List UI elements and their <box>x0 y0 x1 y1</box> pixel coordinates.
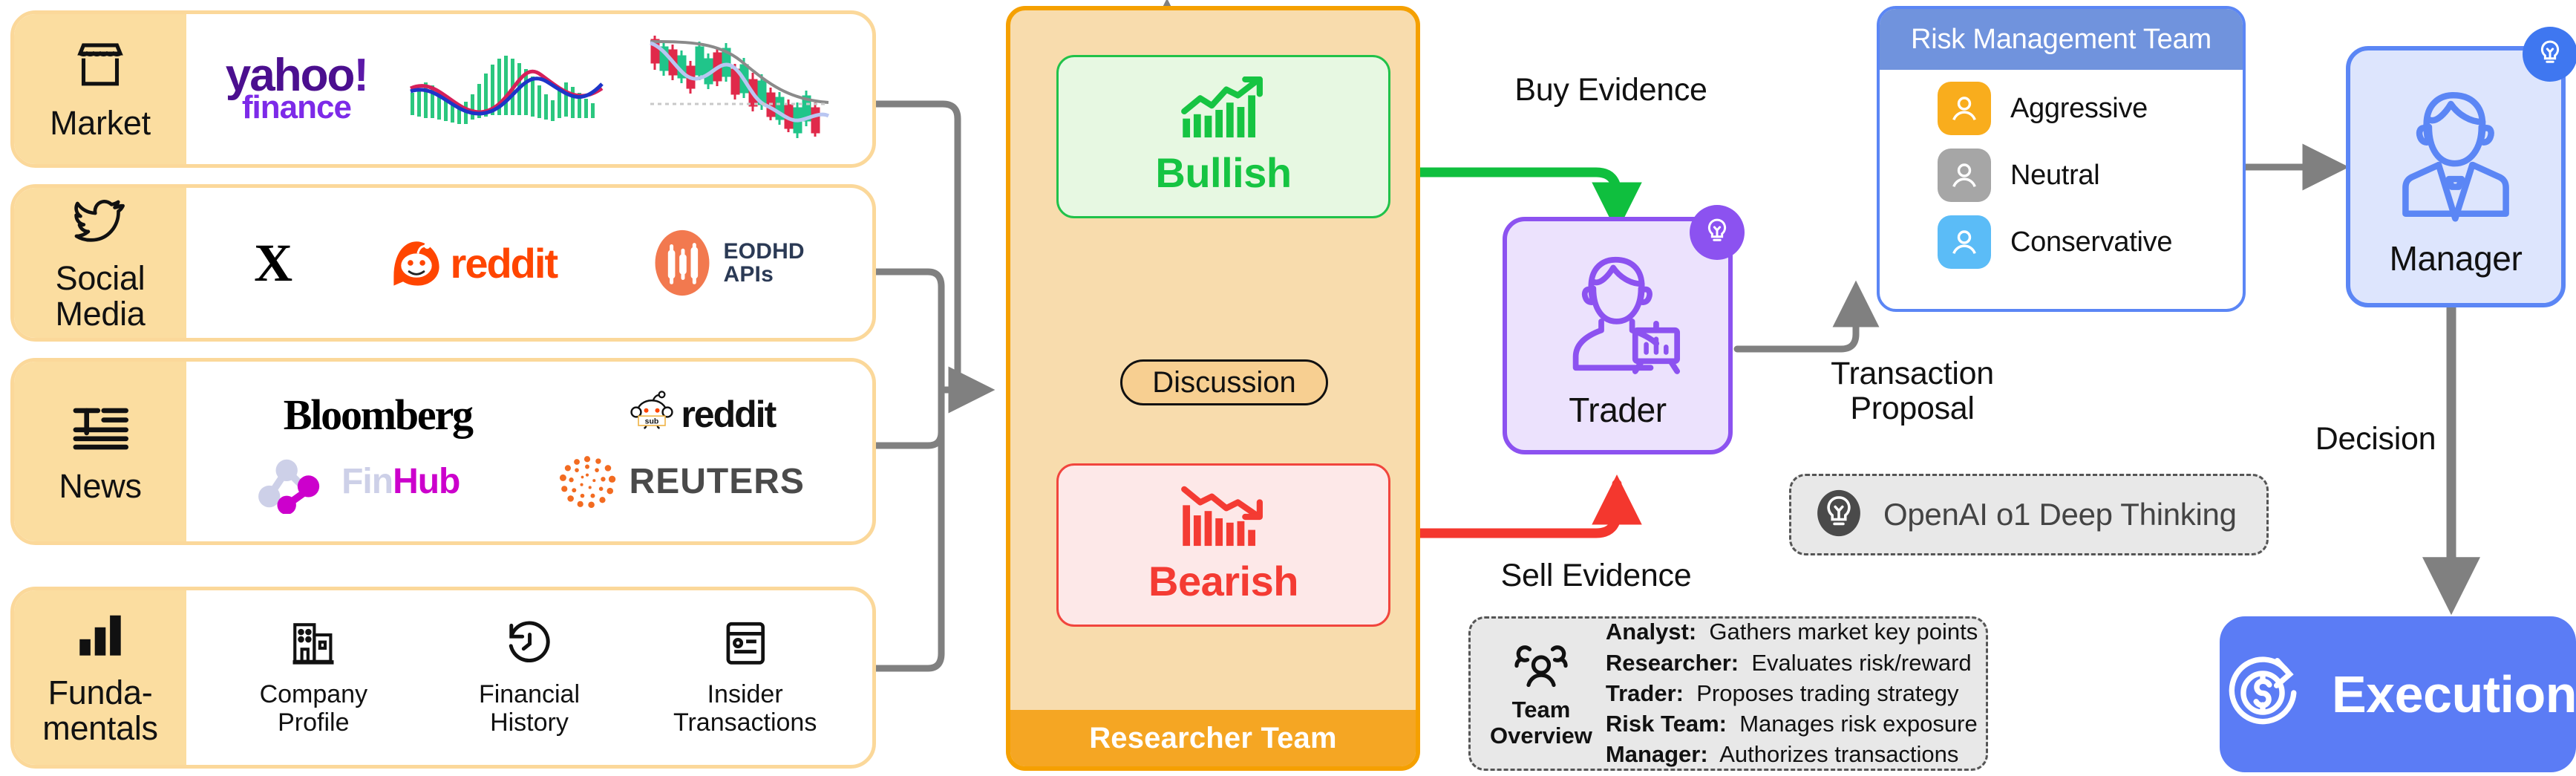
team-overview-heading: Team Overview <box>1490 639 1592 749</box>
diagram-canvas: Market yahoo! finance <box>0 0 2576 776</box>
risk-team-title: Risk Management Team <box>1911 24 2211 56</box>
risk-management-team-panel[interactable]: Risk Management Team Aggressive <box>1877 6 2246 312</box>
source-tag-label: Market <box>50 105 151 141</box>
edge-label-sell-evidence: Sell Evidence <box>1448 558 1745 593</box>
edge-label-buy-evidence: Buy Evidence <box>1455 73 1767 108</box>
overview-row: Researcher: Evaluates risk/reward <box>1606 648 1978 678</box>
researcher-team-panel[interactable]: Bullish Discussion Bearish <box>1006 6 1420 771</box>
risk-member-conservative[interactable]: Conservative <box>1938 215 2243 269</box>
researcher-team-label: Researcher Team <box>1089 722 1337 755</box>
risk-member-aggressive[interactable]: Aggressive <box>1938 82 2243 135</box>
storefront-icon <box>71 38 129 95</box>
overview-row: Risk Team: Manages risk exposure <box>1606 709 1978 739</box>
uptrend-bars-icon <box>1180 76 1267 144</box>
openai-o1-badge[interactable]: OpenAI o1 Deep Thinking <box>1789 474 2269 555</box>
lightbulb-icon <box>1701 215 1733 250</box>
team-overview-title: Team Overview <box>1490 697 1592 749</box>
source-body-news: Bloomberg sub reddit <box>186 362 872 541</box>
bloomberg-logo: Bloomberg <box>284 390 472 440</box>
person-icon <box>1938 82 1991 135</box>
overview-row: Trader: Proposes trading strategy <box>1606 679 1978 708</box>
execution-card[interactable]: Execution <box>2220 616 2576 772</box>
clock-rewind-icon <box>504 619 555 671</box>
risk-member-neutral[interactable]: Neutral <box>1938 149 2243 202</box>
lightbulb-icon <box>1814 488 1864 542</box>
dollar-refresh-icon <box>2219 649 2307 740</box>
yahoo-finance-logo: yahoo! finance <box>226 56 367 122</box>
office-building-icon <box>289 619 338 671</box>
trader-label: Trader <box>1569 390 1666 430</box>
trader-avatar-icon <box>1551 242 1684 387</box>
manager-card[interactable]: Manager <box>2346 46 2566 307</box>
person-icon <box>1938 149 1991 202</box>
downtrend-bars-icon <box>1180 485 1267 552</box>
risk-member-label: Conservative <box>2010 226 2172 258</box>
bullish-card[interactable]: Bullish <box>1056 55 1390 218</box>
person-icon <box>1938 215 1991 269</box>
overview-row: Manager: Authorizes transactions <box>1606 740 1978 769</box>
team-overview-box[interactable]: Team Overview Analyst: Gathers market ke… <box>1468 616 1988 771</box>
reuters-logo: REUTERS <box>557 451 805 512</box>
source-tag-label: Social Media <box>55 261 145 331</box>
risk-team-members: Aggressive Neutral Conse <box>1880 70 2243 282</box>
source-body-fundamentals: Company Profile Financial History <box>186 590 872 765</box>
bearish-card[interactable]: Bearish <box>1056 463 1390 627</box>
bearish-label: Bearish <box>1148 557 1298 605</box>
volume-bar-chart-thumbnail <box>408 39 608 140</box>
edge-label-transaction-proposal: Transaction Proposal <box>1779 356 2046 427</box>
twitter-bird-icon <box>72 195 128 250</box>
overview-row: Analyst: Gathers market key points <box>1606 617 1978 647</box>
company-profile-item[interactable]: Company Profile <box>228 619 399 737</box>
item-label: Financial History <box>479 680 580 737</box>
source-tag-news: News <box>14 362 186 541</box>
researcher-team-footer: Researcher Team <box>1010 710 1416 766</box>
source-row-news[interactable]: News Bloomberg sub <box>10 358 876 545</box>
source-row-market[interactable]: Market yahoo! finance <box>10 10 876 168</box>
bullish-label: Bullish <box>1155 149 1291 197</box>
manager-label: Manager <box>2390 238 2523 278</box>
source-body-market: yahoo! finance <box>186 14 872 164</box>
financial-history-item[interactable]: Financial History <box>444 619 615 737</box>
risk-member-label: Aggressive <box>2010 93 2148 125</box>
risk-team-header: Risk Management Team <box>1880 9 2243 70</box>
item-label: Insider Transactions <box>673 680 817 737</box>
candlestick-chart-thumbnail <box>647 28 833 151</box>
source-tag-label: News <box>59 469 141 504</box>
source-row-social-media[interactable]: Social Media X reddit <box>10 184 876 342</box>
lightbulb-icon <box>2534 37 2566 72</box>
reddit-logo: reddit <box>390 236 558 290</box>
risk-member-label: Neutral <box>2010 160 2099 192</box>
eodhd-apis-logo: EODHDAPIs <box>653 227 804 299</box>
execution-label: Execution <box>2332 665 2576 724</box>
source-tag-market: Market <box>14 14 186 164</box>
lightbulb-badge[interactable] <box>2523 27 2576 82</box>
id-card-icon <box>722 619 768 671</box>
lightbulb-badge[interactable] <box>1690 205 1745 260</box>
source-tag-label: Funda- mentals <box>42 675 157 746</box>
discussion-pill[interactable]: Discussion <box>1120 359 1328 405</box>
source-tag-social-media: Social Media <box>14 188 186 338</box>
item-label: Company Profile <box>260 680 368 737</box>
news-line-2: FinHub <box>206 450 853 514</box>
trader-card[interactable]: Trader <box>1503 217 1733 454</box>
discussion-label: Discussion <box>1152 366 1295 400</box>
source-row-fundamentals[interactable]: Funda- mentals Company Profile <box>10 587 876 769</box>
team-overview-rows: Analyst: Gathers market key points Resea… <box>1606 617 1978 769</box>
insider-transactions-item[interactable]: Insider Transactions <box>660 619 831 737</box>
x-logo: X <box>254 232 292 294</box>
finhub-logo: FinHub <box>254 450 460 514</box>
people-group-icon <box>1511 639 1571 694</box>
source-body-social-media: X reddit <box>186 188 872 338</box>
edge-label-decision: Decision <box>2272 422 2479 457</box>
subreddit-logo: sub reddit <box>627 390 775 439</box>
article-text-icon <box>70 400 131 458</box>
manager-avatar-icon <box>2382 76 2530 235</box>
svg-text:sub: sub <box>645 417 659 426</box>
news-line-1: Bloomberg sub reddit <box>206 390 853 440</box>
bar-chart-icon <box>73 609 127 665</box>
source-tag-fundamentals: Funda- mentals <box>14 590 186 765</box>
openai-o1-label: OpenAI o1 Deep Thinking <box>1883 497 2237 532</box>
